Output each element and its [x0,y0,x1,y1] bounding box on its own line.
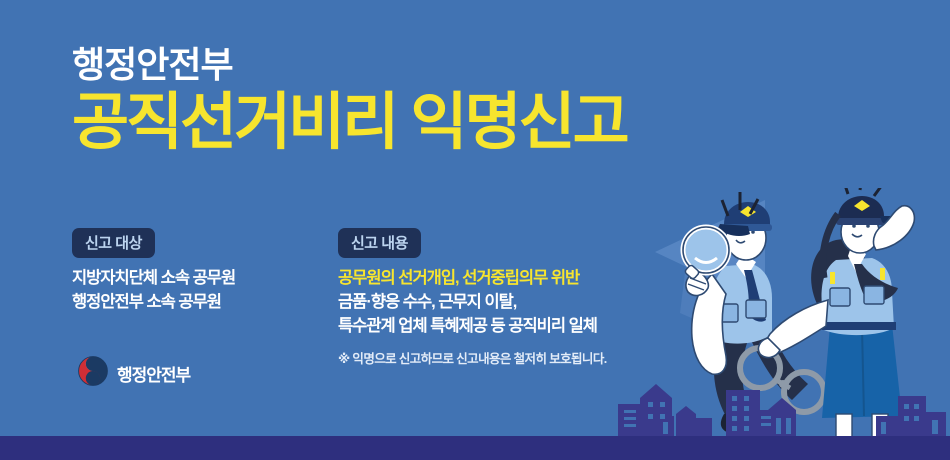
report-target-line: 행정안전부 소속 공무원 [72,291,300,315]
headline-subtitle: 행정안전부 [72,46,627,84]
badge-report-content: 신고 내용 [338,228,421,258]
report-target-line: 지방자치단체 소속 공무원 [72,267,300,291]
report-content-line: 공무원의 선거개입, 선거중립의무 위반 [338,267,668,291]
info-column-report-target: 신고 대상 지방자치단체 소속 공무원 행정안전부 소속 공무원 [72,228,300,367]
taegeuk-logo-icon [78,356,108,391]
cityscape-icon [600,376,950,436]
headline-title: 공직선거비리 익명신고 [72,90,627,157]
ministry-logo-block: 행정안전부 [78,356,190,391]
banner-root: 행정안전부 공직선거비리 익명신고 신고 대상 지방자치단체 소속 공무원 행정… [0,0,950,460]
info-columns: 신고 대상 지방자치단체 소속 공무원 행정안전부 소속 공무원 신고 내용 공… [72,228,668,367]
headline-block: 행정안전부 공직선거비리 익명신고 [72,46,627,157]
info-column-report-content: 신고 내용 공무원의 선거개입, 선거중립의무 위반 금품·향응 수수, 근무지… [338,228,668,367]
badge-report-target: 신고 대상 [72,228,155,258]
report-content-line: 특수관계 업체 특혜제공 등 공직비리 일체 [338,315,668,339]
anonymity-note: ※ 익명으로 신고하므로 신고내용은 철저히 보호됩니다. [338,348,668,367]
ministry-name: 행정안전부 [117,361,190,386]
bottom-band [0,436,950,460]
report-content-line: 금품·향응 수수, 근무지 이탈, [338,291,668,315]
